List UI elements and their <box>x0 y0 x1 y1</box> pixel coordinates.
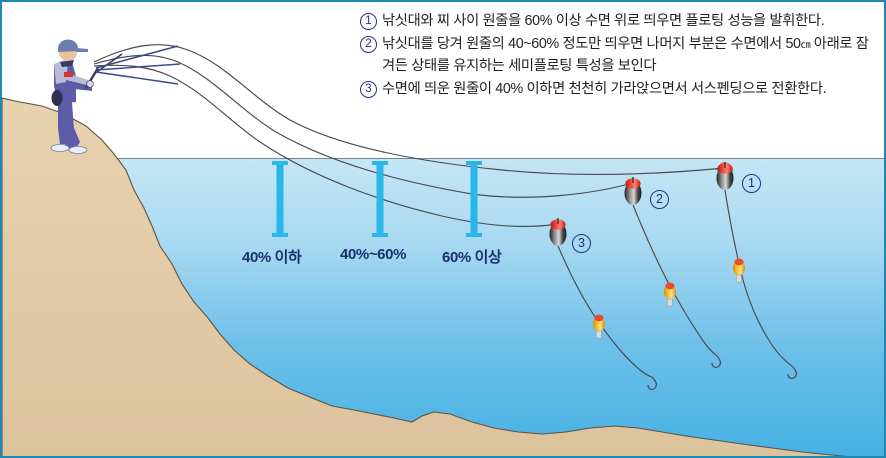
marker-3: 3 <box>572 234 591 253</box>
caption-number-3: 3 <box>360 81 377 98</box>
caption-text-2: 낚싯대를 당겨 원줄의 40~60% 정도만 띄우면 나머지 부분은 수면에서 … <box>382 33 880 77</box>
caption-number-2: 2 <box>360 36 377 53</box>
float-1 <box>717 162 734 190</box>
float-2 <box>625 177 642 205</box>
depth-label-40-under: 40% 이하 <box>242 246 301 267</box>
depth-label-60-over: 60% 이상 <box>442 246 501 267</box>
caption-text-3: 수면에 띄운 원줄이 40% 이하면 천천히 가라앉으면서 서스펜딩으로 전환한… <box>382 78 880 100</box>
caption-row-1: 1 낚싯대와 찌 사이 원줄을 60% 이상 수면 위로 띄우면 플로팅 성능을… <box>360 10 880 32</box>
float-3 <box>550 218 567 246</box>
caption-row-2: 2 낚싯대를 당겨 원줄의 40~60% 정도만 띄우면 나머지 부분은 수면에… <box>360 33 880 77</box>
marker-1: 1 <box>742 174 761 193</box>
caption-number-1: 1 <box>360 13 377 30</box>
caption-row-3: 3 수면에 띄운 원줄이 40% 이하면 천천히 가라앉으면서 서스펜딩으로 전… <box>360 78 880 100</box>
fishing-diagram-figure: 1 낚싯대와 찌 사이 원줄을 60% 이상 수면 위로 띄우면 플로팅 성능을… <box>0 0 886 458</box>
marker-2: 2 <box>650 190 669 209</box>
depth-label-40-to-60: 40%~60% <box>340 246 406 263</box>
caption-text-2-part1: 낚싯대를 당겨 원줄의 40~60% 정도만 띄우면 나머지 부분은 수면에서 … <box>382 36 801 52</box>
caption-block: 1 낚싯대와 찌 사이 원줄을 60% 이상 수면 위로 띄우면 플로팅 성능을… <box>360 10 880 101</box>
caption-unit-cm: ㎝ <box>801 40 811 51</box>
caption-text-1: 낚싯대와 찌 사이 원줄을 60% 이상 수면 위로 띄우면 플로팅 성능을 발… <box>382 10 880 32</box>
